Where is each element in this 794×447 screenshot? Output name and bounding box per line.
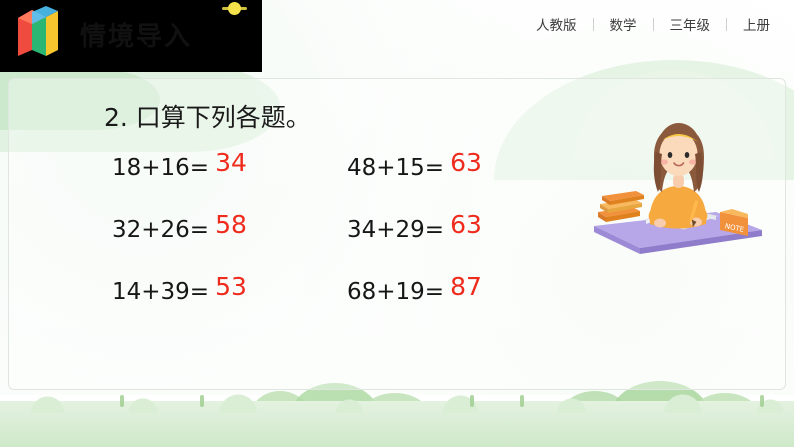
problem-answer: 58 bbox=[215, 210, 247, 239]
breadcrumb: 人教版 数学 三年级 上册 bbox=[536, 14, 770, 34]
problem-expression: 34+29= bbox=[347, 217, 444, 243]
grass-tuft-icon bbox=[200, 395, 204, 407]
problem-expression: 48+15= bbox=[347, 155, 444, 181]
problem-item: 34+29= 63 bbox=[347, 214, 582, 243]
grass-tuft-icon bbox=[520, 395, 524, 407]
problem-row: 14+39= 53 68+19= 87 bbox=[112, 276, 582, 338]
problem-expression: 14+39= bbox=[112, 279, 209, 305]
cube-logo-icon bbox=[16, 6, 60, 58]
grass-tuft-icon bbox=[760, 395, 764, 407]
problem-answer: 63 bbox=[450, 148, 482, 177]
breadcrumb-separator bbox=[653, 18, 654, 31]
background-bottom-grass bbox=[0, 401, 794, 447]
breadcrumb-separator bbox=[593, 18, 594, 31]
spark-icon bbox=[228, 2, 241, 15]
problem-item: 48+15= 63 bbox=[347, 152, 582, 181]
girl-figure-icon bbox=[644, 123, 712, 229]
problem-expression: 32+26= bbox=[112, 217, 209, 243]
breadcrumb-separator bbox=[726, 18, 727, 31]
breadcrumb-grade: 三年级 bbox=[670, 14, 711, 34]
problem-expression: 18+16= bbox=[112, 155, 209, 181]
problem-item: 18+16= 34 bbox=[112, 152, 347, 181]
problem-row: 18+16= 34 48+15= 63 bbox=[112, 152, 582, 214]
problem-row: 32+26= 58 34+29= 63 bbox=[112, 214, 582, 276]
girl-reading-at-desk-illustration: NOTE bbox=[588, 108, 768, 268]
problem-expression: 68+19= bbox=[347, 279, 444, 305]
grass-tuft-icon bbox=[120, 395, 124, 407]
question-label: 2. 口算下列各题。 bbox=[104, 98, 311, 134]
problem-item: 68+19= 87 bbox=[347, 276, 582, 305]
breadcrumb-publisher: 人教版 bbox=[536, 14, 577, 34]
stacked-books-icon bbox=[598, 191, 644, 222]
problem-answer: 87 bbox=[450, 272, 482, 301]
slide: 情境导入 人教版 数学 三年级 上册 2. 口算下列各题。 18+16= 34 … bbox=[0, 0, 794, 447]
problem-answer: 34 bbox=[215, 148, 247, 177]
problem-answer: 53 bbox=[215, 272, 247, 301]
breadcrumb-subject: 数学 bbox=[610, 14, 637, 34]
problem-item: 14+39= 53 bbox=[112, 276, 347, 305]
problem-answer: 63 bbox=[450, 210, 482, 239]
page-title: 情境导入 bbox=[80, 16, 192, 53]
breadcrumb-volume: 上册 bbox=[743, 14, 770, 34]
grass-tuft-icon bbox=[470, 395, 474, 407]
problem-item: 32+26= 58 bbox=[112, 214, 347, 243]
problem-list: 18+16= 34 48+15= 63 32+26= 58 34+29= 63 … bbox=[112, 152, 582, 338]
